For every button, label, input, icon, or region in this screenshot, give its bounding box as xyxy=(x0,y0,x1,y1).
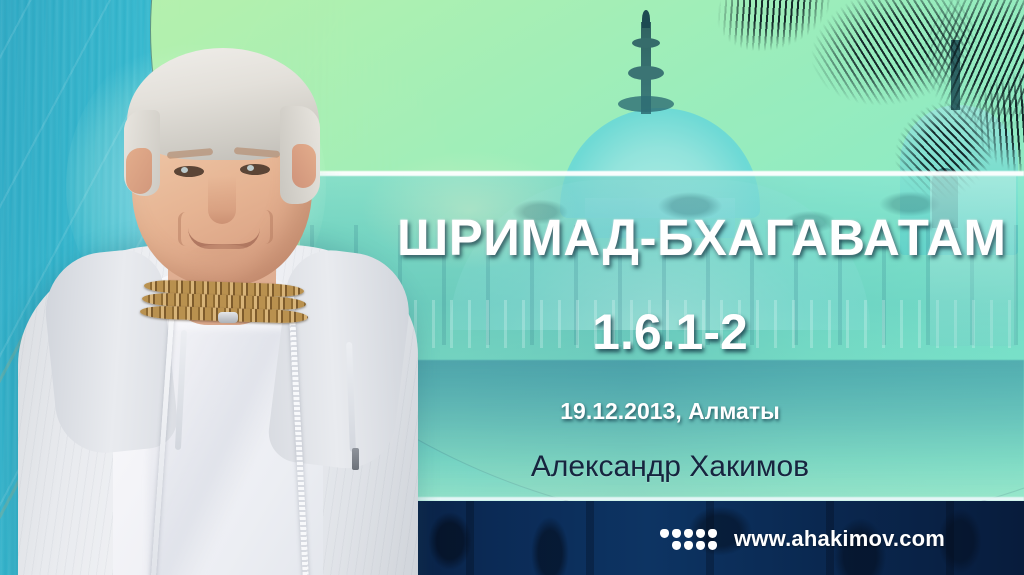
logo-dot xyxy=(684,541,693,550)
logo-dot-blank xyxy=(660,541,669,550)
speaker-name: Александр Хакимов xyxy=(0,450,1024,484)
date-and-location: 19.12.2013, Алматы xyxy=(0,398,1024,425)
nose xyxy=(208,176,236,224)
logo-dot xyxy=(708,529,717,538)
ear-left xyxy=(126,148,152,194)
verse-reference: 1.6.1-2 xyxy=(0,303,1024,361)
eye-highlight-left xyxy=(181,167,188,173)
logo-dot xyxy=(672,529,681,538)
temple-spire-ring xyxy=(618,96,674,112)
website-row[interactable]: www.ahakimov.com xyxy=(660,526,945,552)
eye-highlight-right xyxy=(247,165,254,171)
banner-title: ШРИМАД-БХАГАВАТАМ xyxy=(397,208,1007,267)
chin xyxy=(180,244,266,284)
ahakimov-dots-logo-icon xyxy=(660,529,717,550)
eye-left xyxy=(174,166,204,177)
logo-dot xyxy=(696,541,705,550)
logo-dot xyxy=(660,529,669,538)
ear-right xyxy=(292,144,316,188)
logo-dot xyxy=(696,529,705,538)
logo-dot xyxy=(672,541,681,550)
logo-dot xyxy=(708,541,717,550)
logo-dot xyxy=(684,529,693,538)
lecture-banner: ШРИМАД-БХАГАВАТАМ 1.6.1-2 19.12.2013, Ал… xyxy=(0,0,1024,575)
temple-spire-cap xyxy=(642,10,650,28)
website-url[interactable]: www.ahakimov.com xyxy=(734,526,945,552)
smile-line-right xyxy=(258,210,273,244)
eye-right xyxy=(240,164,270,175)
